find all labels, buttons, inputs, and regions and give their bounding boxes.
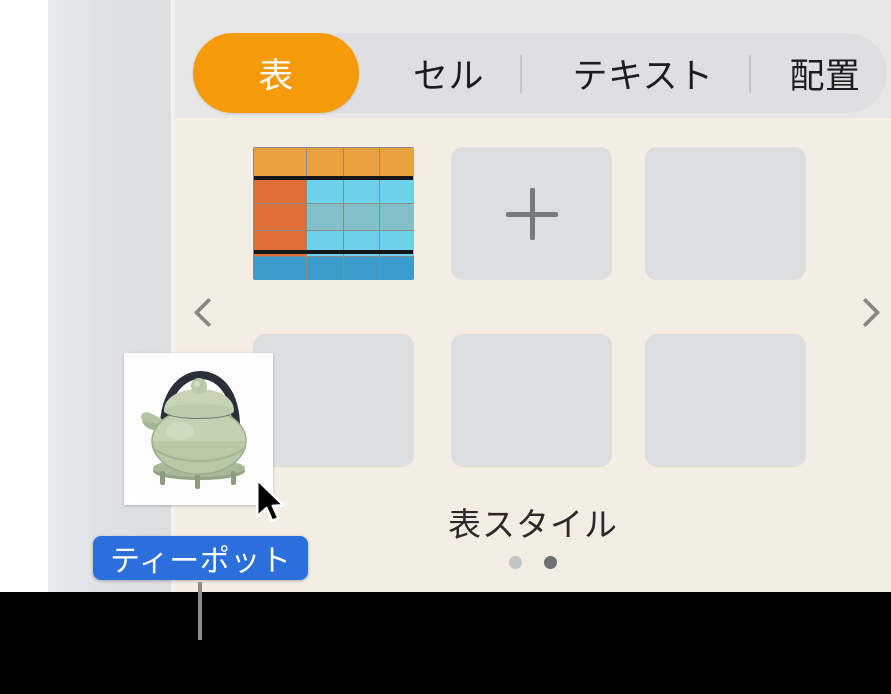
preview-header-rule (254, 176, 413, 180)
tab-arrange[interactable]: 配置 (763, 33, 887, 113)
preview-cell (254, 148, 306, 177)
callout-leader-line (198, 582, 202, 640)
format-inspector-panel: 表 セル テキスト 配置 (175, 0, 891, 592)
table-style-grid: 表スタイル (175, 118, 891, 592)
inspector-header: 表 セル テキスト 配置 (175, 0, 891, 118)
preview-cell (344, 204, 380, 230)
preview-footer-rule (254, 250, 413, 254)
tab-text-label: テキスト (573, 48, 714, 99)
tab-table[interactable]: 表 (193, 33, 359, 113)
preview-cell (344, 257, 380, 280)
style-tile-placeholder[interactable] (451, 334, 612, 467)
tab-cell[interactable]: セル (377, 33, 520, 113)
tab-table-label: 表 (258, 48, 294, 99)
plus-icon (506, 188, 558, 240)
bottom-letterbox (0, 592, 891, 694)
preview-cell (380, 148, 414, 177)
tab-divider (749, 55, 751, 93)
preview-cell (344, 148, 380, 177)
inspector-tab-bar[interactable]: 表 セル テキスト 配置 (193, 33, 887, 113)
preview-cell (254, 178, 306, 204)
preview-cell (254, 204, 306, 230)
style-tile-placeholder[interactable] (645, 334, 806, 467)
page-dot-2[interactable] (544, 556, 557, 569)
preview-cell (307, 257, 343, 280)
preview-cell (307, 148, 343, 177)
table-style-preview-tile[interactable] (253, 147, 414, 280)
preview-cell (344, 178, 380, 204)
teapot-image (132, 361, 265, 497)
preview-cell (380, 178, 414, 204)
preview-cell (380, 257, 414, 280)
preview-cell (307, 178, 343, 204)
preview-cell (254, 257, 306, 280)
page-dot-1[interactable] (509, 556, 522, 569)
style-tile-placeholder[interactable] (253, 334, 414, 467)
teapot-thumbnail[interactable] (124, 353, 273, 505)
callout-badge: ティーポット (93, 536, 308, 580)
tab-divider (520, 55, 522, 93)
teapot-illustration (132, 361, 265, 497)
preview-cell (307, 204, 343, 230)
tab-arrange-label: 配置 (789, 48, 860, 99)
preview-cell (380, 204, 414, 230)
tab-text[interactable]: テキスト (538, 33, 748, 113)
chevron-right-icon[interactable] (847, 296, 881, 330)
tab-cell-label: セル (413, 48, 484, 99)
document-canvas-white (0, 0, 48, 592)
chevron-left-icon[interactable] (190, 296, 224, 330)
add-style-tile[interactable] (451, 147, 612, 280)
callout-badge-label: ティーポット (110, 536, 291, 580)
style-tile-placeholder[interactable] (645, 147, 806, 280)
